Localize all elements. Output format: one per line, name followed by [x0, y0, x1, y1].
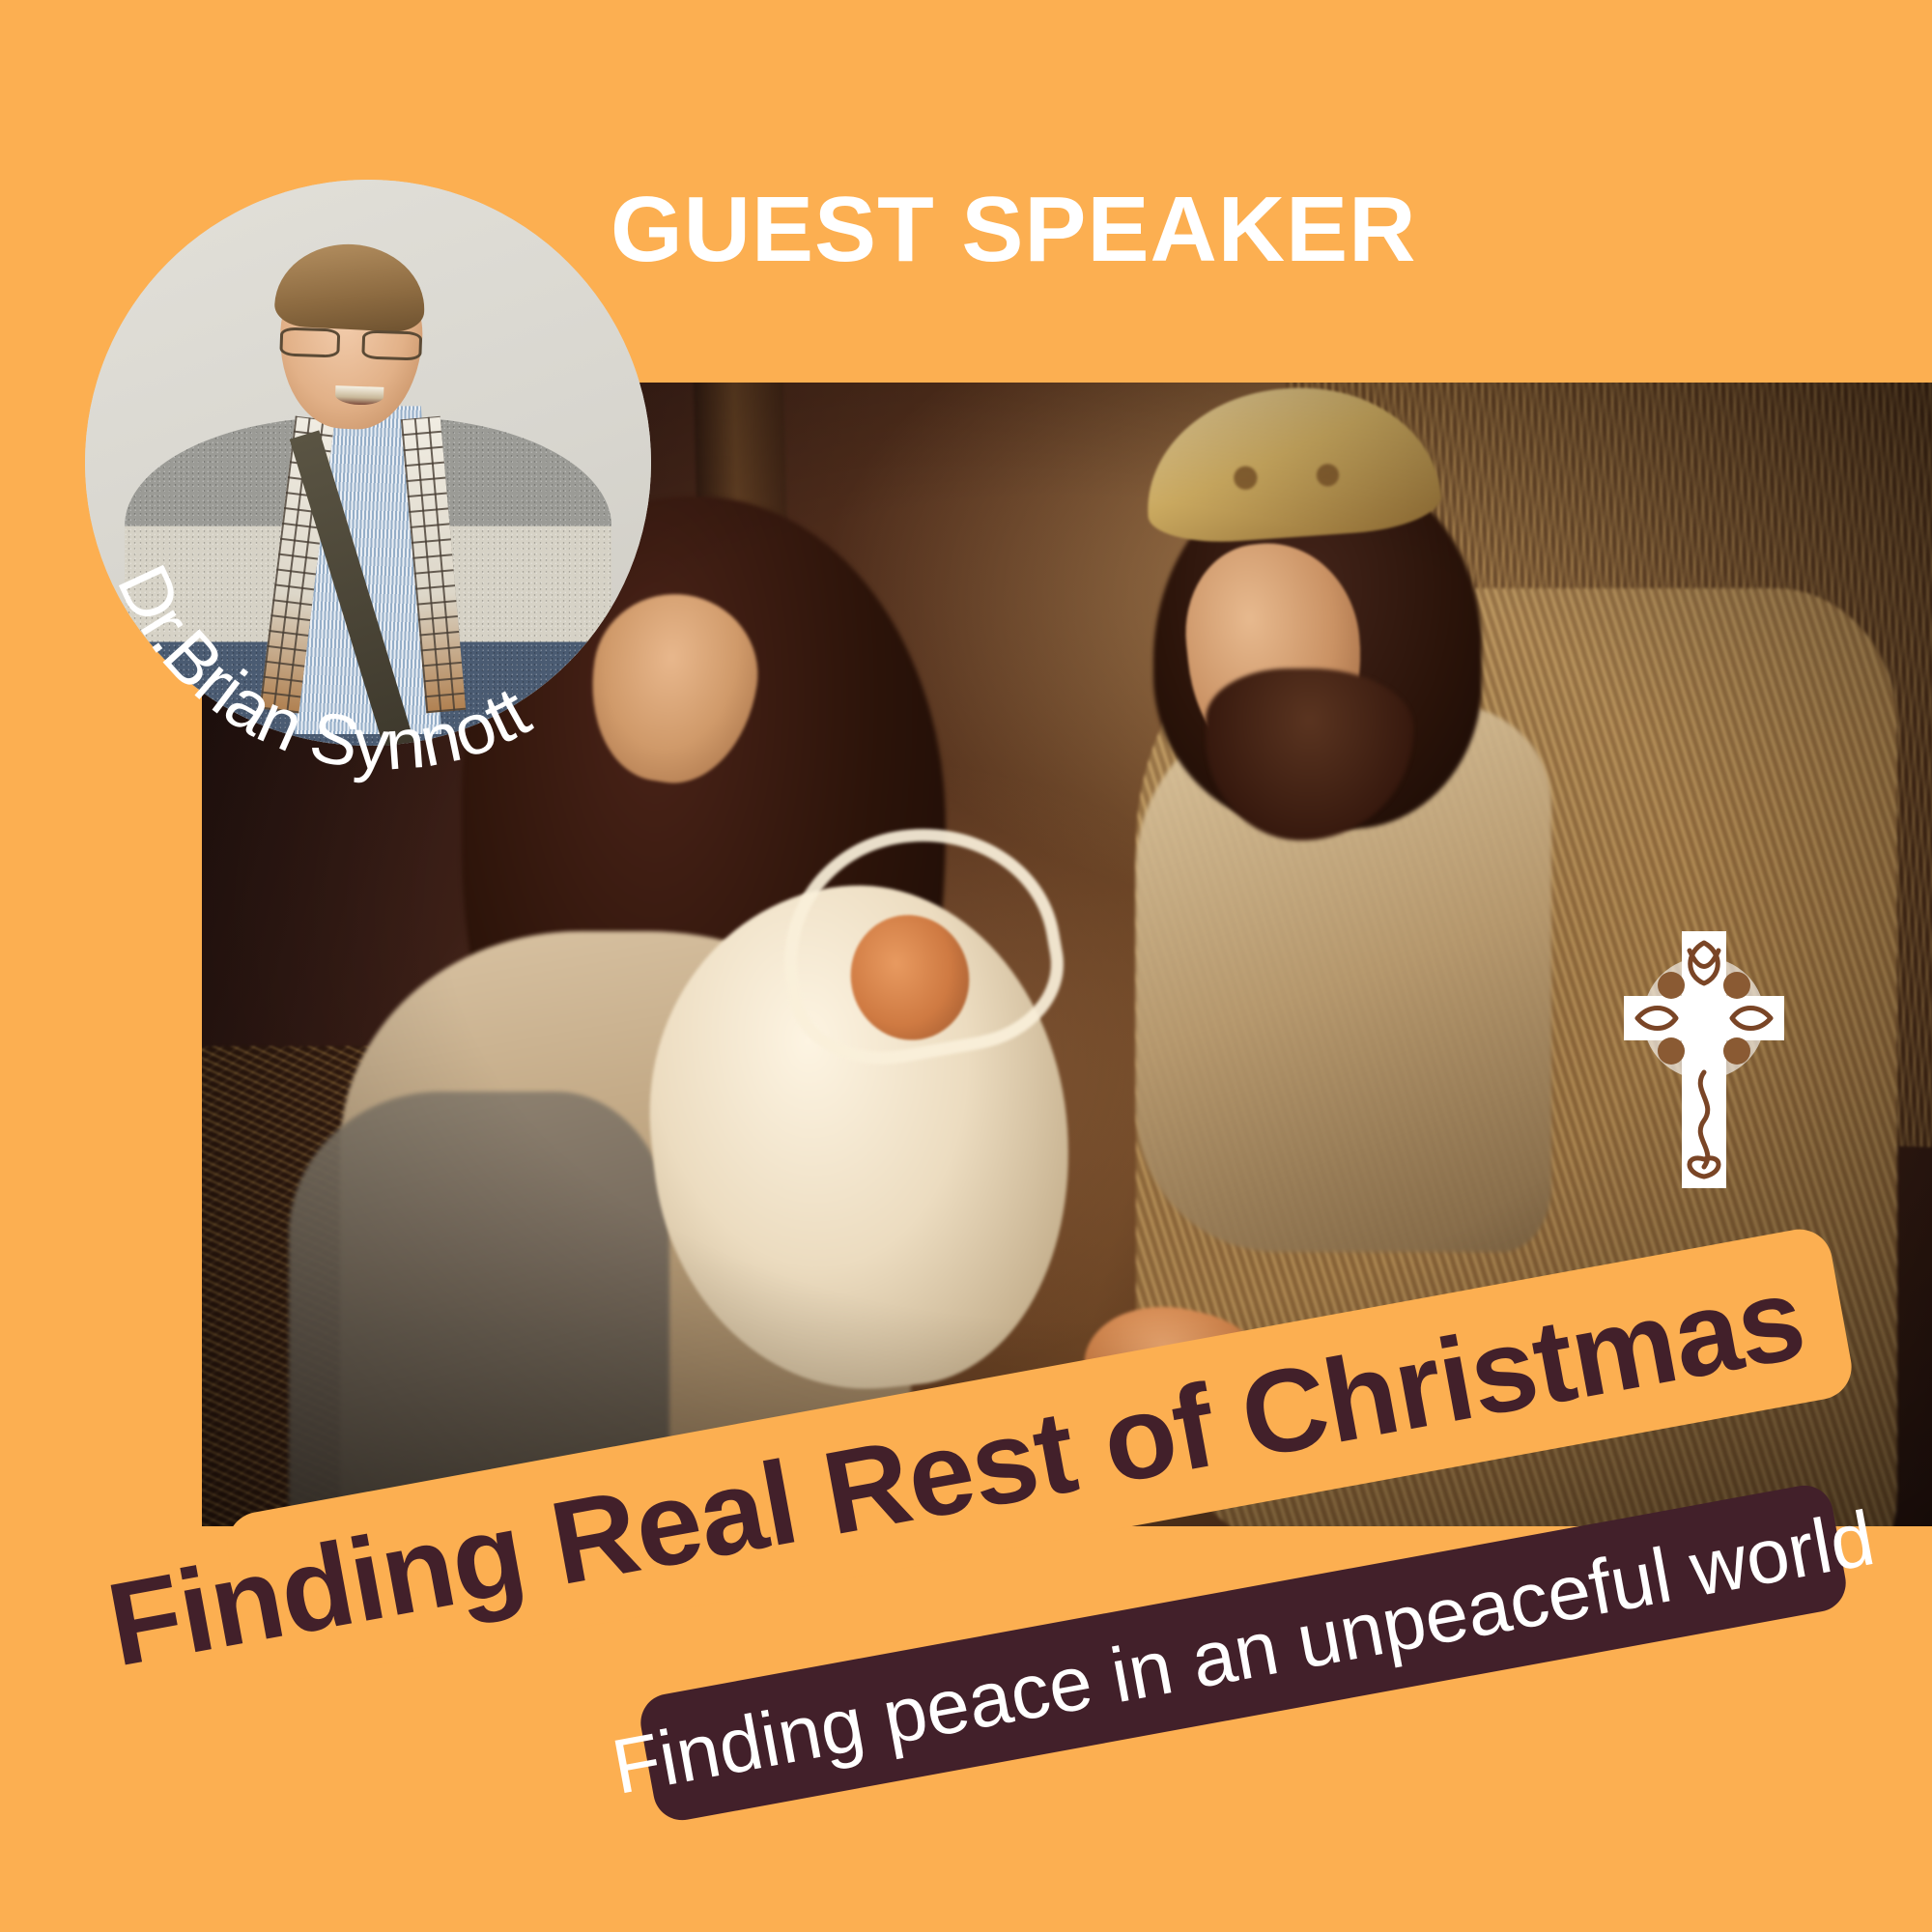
guest-speaker-label: GUEST SPEAKER [611, 184, 1416, 276]
celtic-cross-icon [1622, 929, 1786, 1190]
speaker-portrait [85, 180, 651, 746]
glasses-icon [280, 325, 423, 366]
poster-canvas: GUEST SPEAKER Dr.Brian Synnott Finding R… [0, 0, 1932, 1932]
